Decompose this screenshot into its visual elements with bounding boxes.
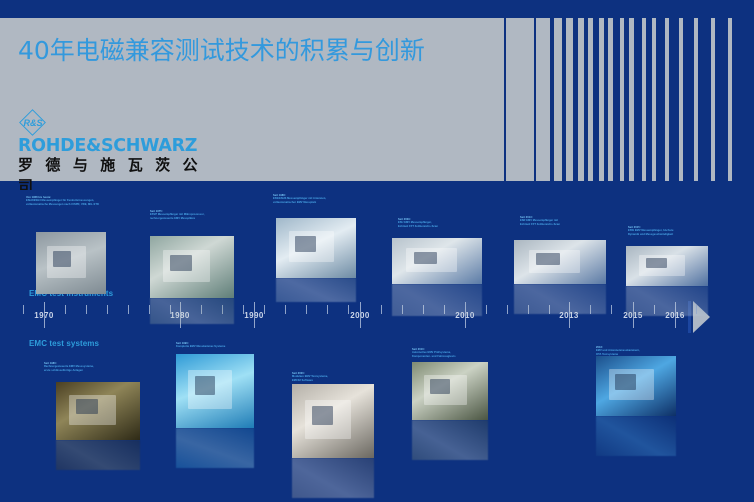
card-photo-automotive-emc-test-system-2010 [412,362,488,420]
slide-header: 40年电磁兼容测试技术的积累与创新 R&S ROHDE&SCHWARZ 罗 德 … [0,0,754,190]
axis-tick-minor [86,305,87,314]
logo-wordmark: ROHDE&SCHWARZ [18,136,197,156]
photo-device-screen [195,376,215,395]
card-caption: Seit 1975:ESVP Messempfänger mit Mikropr… [150,210,250,220]
header-stripe-15 [698,18,711,181]
card-caption-body: ESS/ESHS Messempfänger mit Antennen, vol… [273,197,373,204]
card-caption-body: ESR EMV Messempfänger mit Echtzeit FFT Z… [520,219,620,226]
axis-tick-minor [285,305,286,314]
header-stripe-4 [573,18,578,181]
card-photo-emc-chamber-system-1990 [176,354,254,428]
card-caption-body: Modulare EMV Testsysteme, EMC32 Software [292,375,392,382]
header-stripe-2 [550,18,554,181]
header-stripe-9 [624,18,629,181]
axis-tick-minor [264,305,265,314]
axis-tick-minor [381,305,382,314]
header-stripe-10 [634,18,642,181]
axis-year-1990: 1990 [244,311,263,320]
card-photo-esvp-receiver-and-rack-1975 [150,236,234,298]
header-stripe-17 [732,18,754,181]
card-caption-body: Automotive EMV Prüfsysteme, Komponenten-… [412,351,512,358]
card-photo-reflection [596,416,676,456]
header-stripe-0 [504,18,506,181]
axis-year-2000: 2000 [350,311,369,320]
header-stripe-3 [562,18,566,181]
axis-tick-minor [65,305,66,314]
axis-tick-minor [611,305,612,314]
photo-device-screen [312,406,333,425]
header-stripe-6 [593,18,599,181]
axis-tick-minor [306,305,307,314]
photo-device-screen [170,255,192,271]
card-photo-computer-controlled-emc-system-1980 [56,382,140,440]
axis-tick-minor [128,305,129,314]
card-caption-body: Komplette EMV Messkammer-Systeme [176,345,276,348]
card-photo-esw-emi-test-receiver-2015 [626,246,708,286]
card-caption-body: ESU EMV Messempfänger, Echtzeit FFT Zeit… [398,221,498,228]
card-caption-body: Rechnergesteuerte EMV Messsysteme, erste… [44,365,154,372]
header-stripe-5 [584,18,588,181]
photo-device-screen [53,251,71,267]
header-stripe-7 [604,18,608,181]
card-photo-emi-test-receiver-1968 [36,232,106,294]
card-photo-reflection [176,428,254,468]
photo-device-screen [536,253,560,264]
card-caption: Seit 2013:ESR EMV Messempfänger mit Echt… [520,216,620,226]
rs-diamond-icon: R&S [20,110,46,136]
card-photo-esr-emi-test-receiver-2013 [514,240,606,284]
axis-tick-minor [507,305,508,314]
photo-device-screen [430,379,450,394]
card-caption: Seit 2010:Automotive EMV Prüfsysteme, Ko… [412,348,512,358]
card-photo-esu-emi-test-receiver-2009 [392,238,482,284]
card-photo-reflection [626,286,708,316]
photo-device-screen [615,374,636,390]
card-caption: Seit 2009:ESU EMV Messempfänger, Echtzei… [398,218,498,228]
axis-tick-minor [107,305,108,314]
header-stripe-pattern [500,18,754,181]
card-caption-body: ESW EMV Messempfänger, höchste Dynamik u… [628,229,726,236]
photo-device-screen [646,258,667,268]
card-photo-reflection [412,420,488,460]
card-photo-modular-emc-test-racks-2000 [292,384,374,458]
header-stripe-1 [534,18,536,181]
header-stripe-13 [669,18,679,181]
rohde-schwarz-logo: R&S ROHDE&SCHWARZ 罗 德 与 施 瓦 茨 公 司 [18,110,218,170]
card-photo-reflection [514,284,606,314]
card-photo-reflection [150,298,234,324]
axis-tick-minor [23,305,24,314]
header-stripe-16 [715,18,728,181]
card-caption: Seit 1988:ESS/ESHS Messempfänger mit Ant… [273,194,373,204]
card-caption: Seit 1990:Komplette EMV Messkammer-Syste… [176,342,276,349]
card-caption-body: ESVP Messempfänger mit Mikroprozessor, r… [150,213,250,220]
photo-device-screen [414,252,437,264]
card-caption: Seit 2000:Modulare EMV Testsysteme, EMC3… [292,372,392,382]
rs-monogram: R&S [20,112,46,134]
header-stripe-14 [683,18,694,181]
card-caption-body: ESH2/ESH3 Messempfänger für Funkstörmess… [26,199,122,206]
card-caption: Von 1968 bis heute:ESH2/ESH3 Messempfäng… [26,196,122,206]
axis-tick-minor [486,305,487,314]
card-caption: 2016:EMV und Antennenmesskammern, OTA Te… [596,346,696,356]
page-title: 40年电磁兼容测试技术的积累与创新 [18,36,425,66]
card-caption: Seit 1980:Rechnergesteuerte EMV Messsyst… [44,362,154,372]
axis-tick-minor [348,305,349,314]
row-label-emc-test-systems: EMC test systems [29,339,99,348]
card-photo-reflection [276,278,356,302]
header-stripe-8 [613,18,620,181]
card-photo-reflection [392,284,482,316]
card-photo-reflection [292,458,374,498]
photo-device-screen [76,399,98,414]
axis-tick-minor [327,305,328,314]
card-photo-reflection [56,440,140,470]
card-photo-ess-receiver-with-antenna-1988 [276,218,356,278]
photo-device-screen [295,236,316,252]
header-stripe-11 [646,18,652,181]
card-photo-emc-antenna-chamber-2016 [596,356,676,416]
axis-year-1970: 1970 [34,311,53,320]
header-stripe-12 [656,18,665,181]
card-caption: Seit 2015:ESW EMV Messempfänger, höchste… [628,226,726,236]
